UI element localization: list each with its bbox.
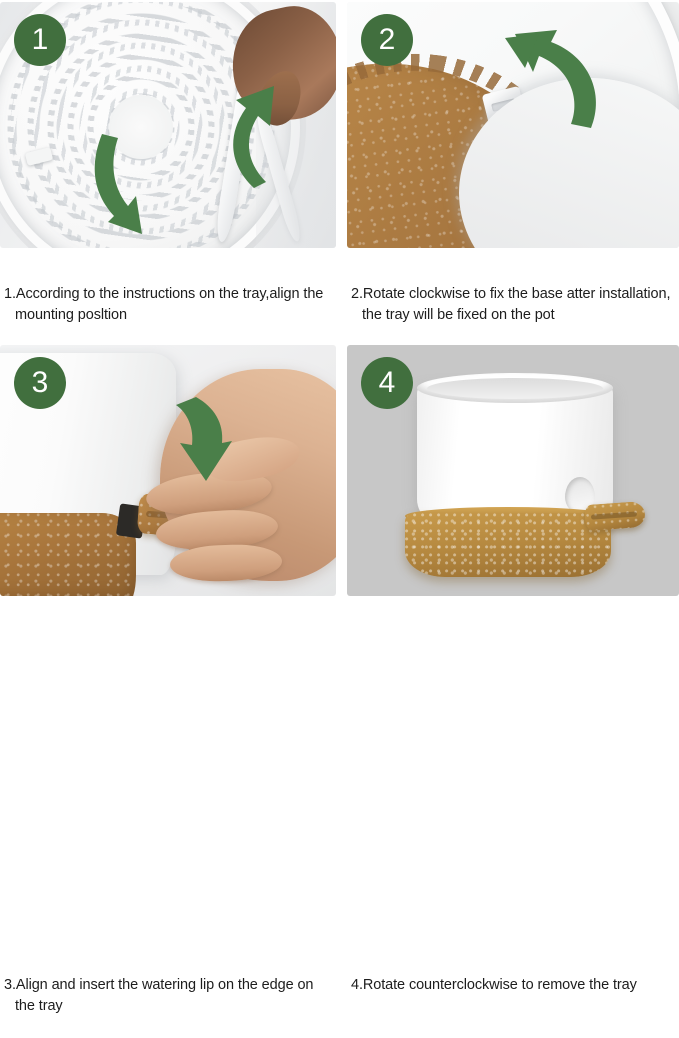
step-4-caption-line1: 4.Rotate counterclockwise to remove the … [351, 977, 637, 993]
watering-lip [584, 501, 646, 531]
step-2-caption: 2.Rotate clockwise to fix the base atter… [351, 263, 677, 347]
arrow-rotate-clockwise-icon [495, 28, 611, 138]
step-3-caption-line2: the tray [4, 996, 334, 1017]
arrow-up-right-icon [208, 74, 304, 192]
step-panel-3: 3.Align and insert the watering lip on t… [0, 345, 336, 596]
step-2-caption-line1: 2.Rotate clockwise to fix the base atter… [351, 286, 670, 302]
arrow-down-left-icon [88, 130, 180, 240]
step-badge-3: 3 [14, 357, 66, 409]
tan-base [405, 513, 611, 577]
step-3-caption: 3.Align and insert the watering lip on t… [4, 954, 334, 1038]
step-panel-2: 2.Rotate clockwise to fix the base atter… [347, 2, 679, 248]
step-panel-1: 1.According to the instructions on the t… [0, 2, 336, 248]
instruction-sheet: 1.According to the instructions on the t… [0, 0, 679, 652]
step-2-caption-line2: the tray will be fixed on the pot [351, 305, 677, 326]
pot-interior [427, 378, 603, 399]
step-1-caption-line1: 1.According to the instructions on the t… [4, 286, 323, 302]
step-panel-4: 4.Rotate counterclockwise to remove the … [347, 345, 679, 596]
step-badge-2: 2 [361, 14, 413, 66]
tan-base [0, 513, 136, 596]
step-badge-1: 1 [14, 14, 66, 66]
step-3-caption-line1: 3.Align and insert the watering lip on t… [4, 977, 313, 993]
step-1-caption-line2: mounting posltion [4, 305, 334, 326]
step-4-caption: 4.Rotate counterclockwise to remove the … [351, 954, 677, 996]
arrow-insert-down-icon [172, 397, 232, 483]
step-badge-4: 4 [361, 357, 413, 409]
step-1-caption: 1.According to the instructions on the t… [4, 263, 334, 347]
